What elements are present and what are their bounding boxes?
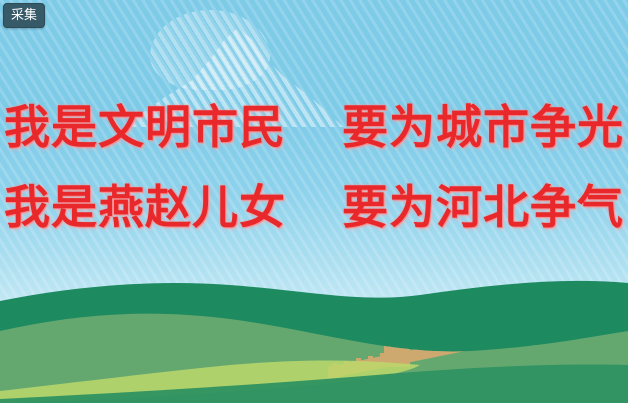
headline-line2-left-text: 我是燕赵儿女: [4, 180, 286, 234]
banner-screenshot: 我是文明市民 要为城市争光 我是燕赵儿女 要为河北争气 采集: [0, 0, 628, 403]
headline-line2-right-text: 要为河北争气: [342, 180, 624, 234]
headline-line-2: 我是燕赵儿女 要为河北争气: [0, 184, 628, 230]
headline-line1-right-text: 要为城市争光: [342, 100, 624, 154]
headline-line-1: 我是文明市民 要为城市争光: [0, 104, 628, 150]
capture-button[interactable]: 采集: [3, 3, 45, 28]
scenery-hills: [0, 273, 628, 403]
headline-line1-left-text: 我是文明市民: [4, 100, 286, 154]
